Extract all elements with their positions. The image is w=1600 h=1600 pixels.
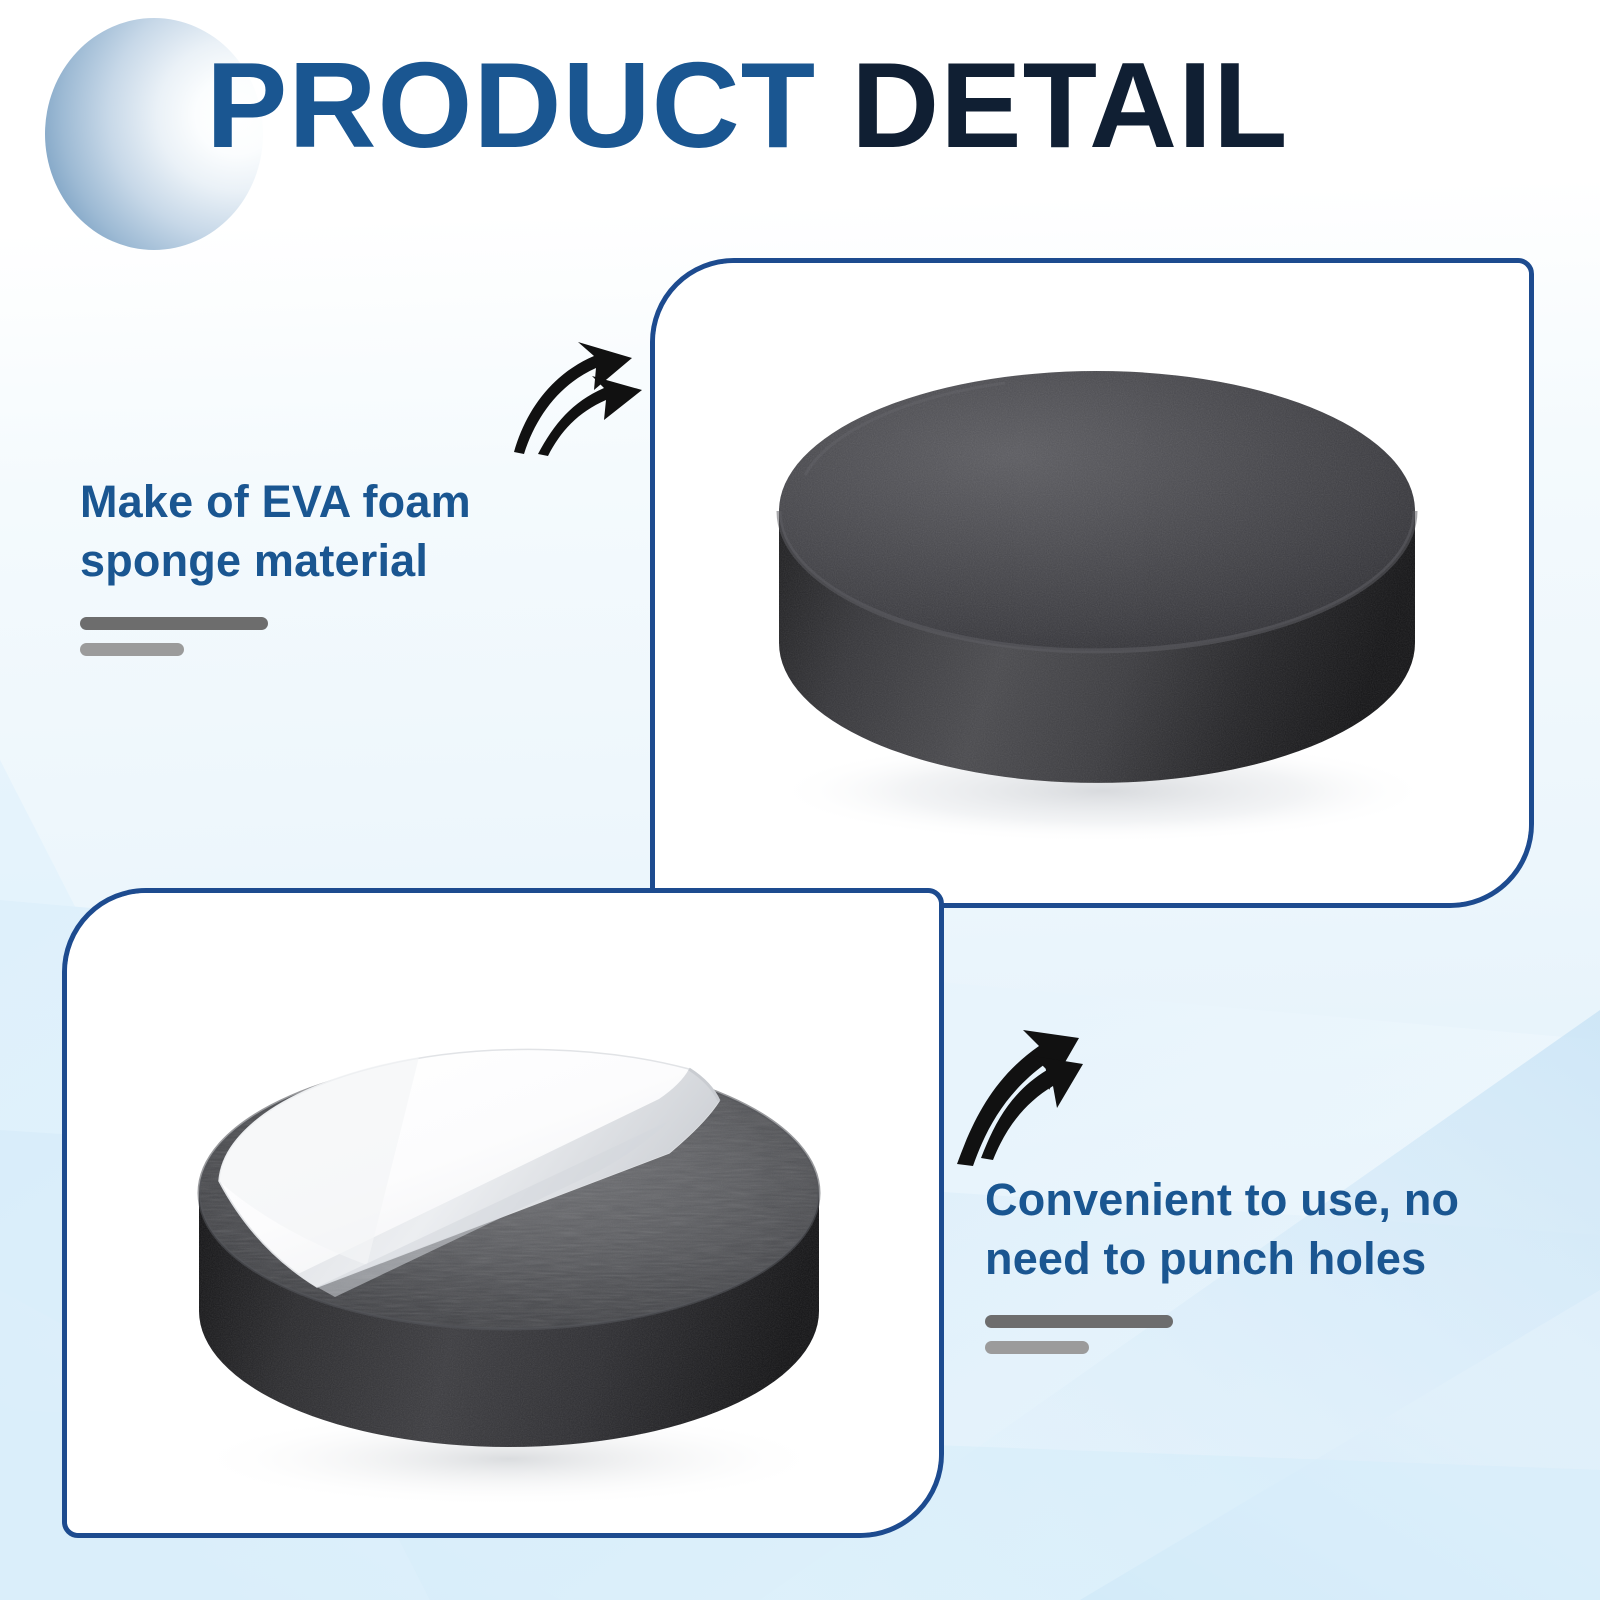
underline-bar-long bbox=[80, 617, 268, 630]
curved-arrow-up-left-icon bbox=[945, 1008, 1085, 1173]
feature-caption-text: Make of EVA foam sponge material bbox=[80, 472, 600, 591]
feature-caption-line-2: sponge material bbox=[80, 531, 600, 590]
adhesive-liner-photo bbox=[67, 893, 939, 1533]
foam-disc-photo bbox=[655, 263, 1529, 903]
feature-caption-eva-foam: Make of EVA foam sponge material bbox=[80, 472, 600, 669]
product-image-panel-adhesive-liner bbox=[62, 888, 944, 1538]
feature-caption-line-1: Convenient to use, no bbox=[985, 1170, 1585, 1229]
product-detail-infographic: PRODUCT DETAIL bbox=[0, 0, 1600, 1600]
feature-caption-no-punch-holes: Convenient to use, no need to punch hole… bbox=[985, 1170, 1585, 1367]
underline-bar-short bbox=[985, 1341, 1089, 1354]
product-image-panel-foam-disc bbox=[650, 258, 1534, 908]
feature-caption-line-2: need to punch holes bbox=[985, 1229, 1585, 1288]
curved-arrow-up-right-icon bbox=[508, 336, 648, 461]
caption-underline-bars bbox=[80, 617, 600, 656]
page-title-primary: PRODUCT bbox=[206, 37, 816, 173]
feature-caption-line-1: Make of EVA foam bbox=[80, 472, 600, 531]
header: PRODUCT DETAIL bbox=[0, 0, 1600, 240]
page-title: PRODUCT DETAIL bbox=[206, 44, 1596, 166]
page-title-secondary: DETAIL bbox=[816, 37, 1288, 173]
caption-underline-bars bbox=[985, 1315, 1585, 1354]
underline-bar-long bbox=[985, 1315, 1173, 1328]
feature-caption-text: Convenient to use, no need to punch hole… bbox=[985, 1170, 1585, 1289]
underline-bar-short bbox=[80, 643, 184, 656]
